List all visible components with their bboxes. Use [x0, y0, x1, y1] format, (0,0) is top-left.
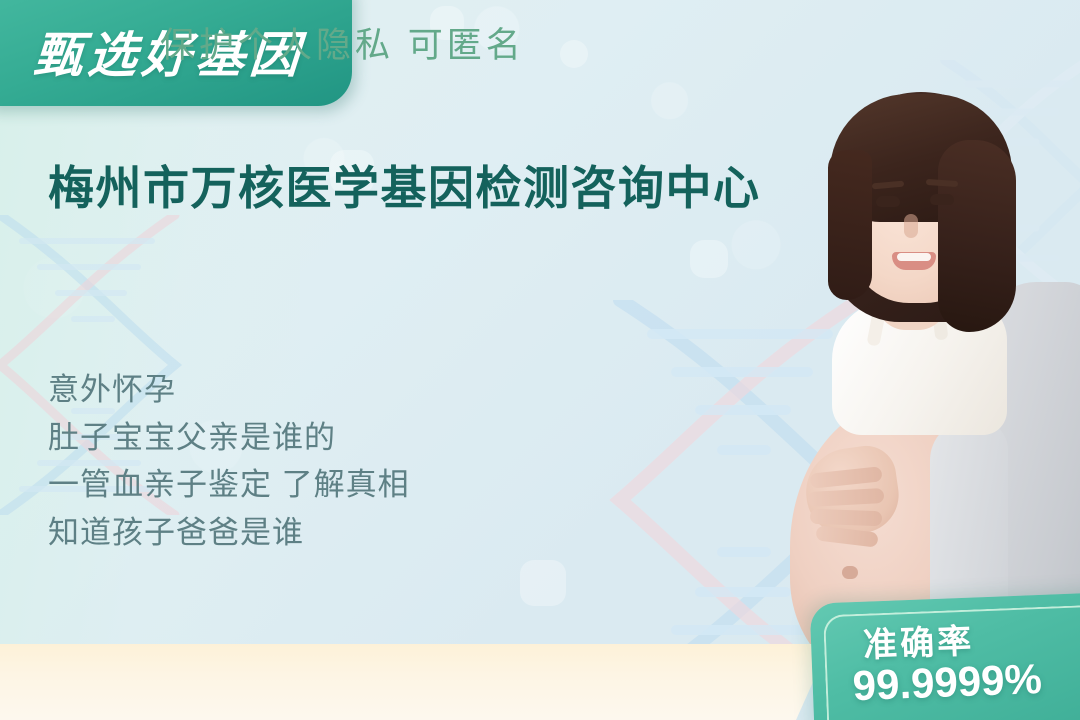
background-square: [520, 560, 566, 606]
body-copy-line: 肚子宝宝父亲是谁的: [48, 420, 410, 457]
photo-eye: [930, 194, 954, 205]
accuracy-badge: 准确率 99.9999%: [810, 592, 1080, 720]
bottom-banner-label: 保护个人隐私 可匿名: [160, 17, 525, 68]
photo-nose: [904, 214, 918, 238]
photo-teeth: [897, 253, 931, 261]
page-title: 梅州市万核医学基因检测咨询中心: [48, 152, 761, 218]
background-square: [690, 240, 728, 278]
photo-eye: [876, 196, 900, 207]
body-copy-line: 意外怀孕: [48, 372, 410, 409]
photo-hair-side: [828, 150, 872, 300]
body-copy-line: 一管血亲子鉴定 了解真相: [48, 467, 410, 504]
promo-poster: 甄选好基因 梅州市万核医学基因检测咨询中心 意外怀孕 肚子宝宝父亲是谁的 一管血…: [0, 0, 1080, 720]
accuracy-badge-value: 99.9999%: [852, 655, 1043, 710]
background-square: [560, 40, 588, 68]
photo-navel: [842, 566, 858, 579]
body-copy-line: 知道孩子爸爸是谁: [48, 515, 410, 552]
body-copy: 意外怀孕 肚子宝宝父亲是谁的 一管血亲子鉴定 了解真相 知道孩子爸爸是谁: [48, 372, 410, 551]
bottom-banner: [0, 644, 830, 720]
photo-finger: [810, 509, 882, 527]
photo-hair-side: [938, 140, 1016, 332]
background-left-wash: [0, 0, 300, 720]
